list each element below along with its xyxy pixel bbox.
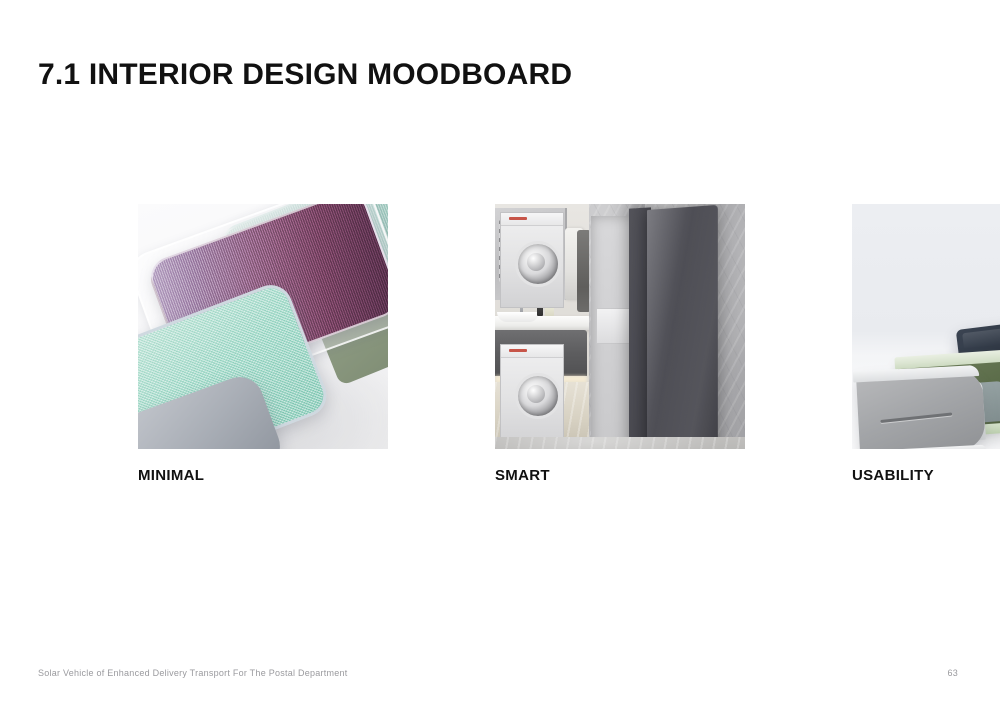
moodboard-caption-minimal: MINIMAL (138, 467, 388, 484)
page-number: 63 (947, 668, 958, 678)
cabinet-door-front (647, 205, 718, 449)
tiled-floor (495, 437, 745, 449)
moodboard-grid: MINIMAL (98, 188, 901, 500)
dryer-unit (500, 212, 564, 308)
moodboard-item-minimal[interactable]: MINIMAL (138, 204, 388, 484)
bathroom-laundry-illustration (495, 204, 745, 449)
moodboard-caption-usability: USABILITY (852, 467, 1000, 484)
moodboard-image-smart[interactable] (495, 204, 745, 449)
box-lip (853, 365, 979, 383)
nesting-boxes-illustration (852, 204, 1000, 449)
grey-storage-box (856, 369, 986, 449)
moodboard-caption-smart: SMART (495, 467, 745, 484)
footer-note: Solar Vehicle of Enhanced Delivery Trans… (38, 668, 347, 678)
box-foot (860, 445, 986, 449)
label-slot (880, 412, 952, 423)
moodboard-item-usability[interactable]: USABILITY (852, 204, 1000, 484)
control-panel (501, 213, 563, 226)
moodboard-image-usability[interactable] (852, 204, 1000, 449)
sink-basin (497, 312, 539, 322)
product-trays-illustration (138, 204, 388, 449)
moodboard-item-smart[interactable]: SMART (495, 204, 745, 484)
page-title: 7.1 INTERIOR DESIGN MOODBOARD (38, 58, 572, 92)
moodboard-image-minimal[interactable] (138, 204, 388, 449)
control-panel (501, 345, 563, 358)
appliance-door (515, 373, 561, 419)
appliance-door (515, 241, 561, 287)
washer-unit (500, 344, 564, 446)
